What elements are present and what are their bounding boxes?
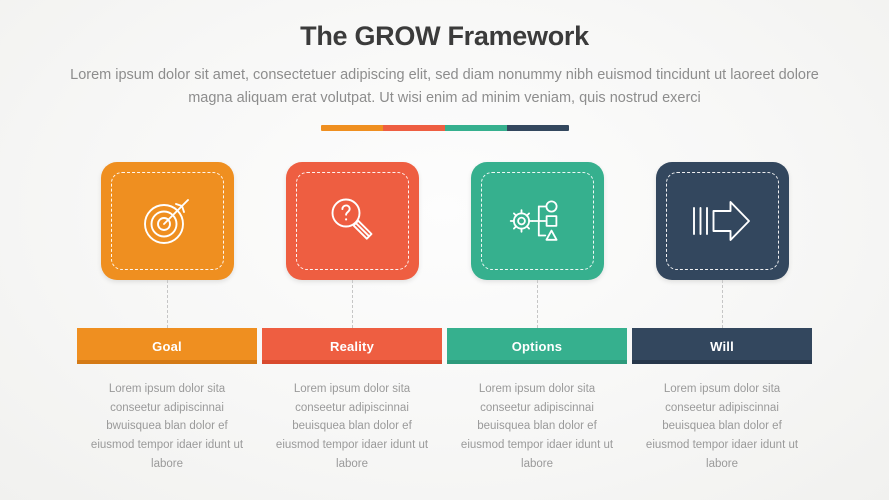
framework-column-will: Will Lorem ipsum dolor sita conseetur ad… — [630, 162, 815, 474]
framework-column-options: Options Lorem ipsum dolor sita conseetur… — [445, 162, 630, 474]
divider-segment-1 — [321, 125, 383, 131]
framework-column-goal: Goal Lorem ipsum dolor sita conseetur ad… — [75, 162, 260, 474]
icon-card-will[interactable] — [656, 162, 789, 280]
description-reality: Lorem ipsum dolor sita conseetur adipisc… — [272, 380, 432, 474]
connector-line-options — [537, 280, 538, 328]
description-goal: Lorem ipsum dolor sita conseetur adipisc… — [87, 380, 247, 474]
motion-arrow-right-icon — [692, 198, 752, 244]
icon-card-options[interactable] — [471, 162, 604, 280]
label-text-options: Options — [512, 339, 563, 354]
connector-line-will — [722, 280, 723, 328]
connector-line-goal — [167, 280, 168, 328]
page-title: The GROW Framework — [0, 22, 889, 52]
divider-segment-4 — [507, 125, 569, 131]
infographic-slide: The GROW Framework Lorem ipsum dolor sit… — [0, 0, 889, 500]
label-bar-underline — [447, 360, 627, 364]
icon-card-goal[interactable] — [101, 162, 234, 280]
header: The GROW Framework Lorem ipsum dolor sit… — [0, 0, 889, 131]
target-arrow-icon — [138, 192, 196, 250]
label-text-will: Will — [710, 339, 734, 354]
label-text-goal: Goal — [152, 339, 182, 354]
icon-card-dashed-frame — [111, 172, 224, 270]
label-bar-options[interactable]: Options — [447, 328, 627, 364]
description-will: Lorem ipsum dolor sita conseetur adipisc… — [642, 380, 802, 474]
label-bar-underline — [262, 360, 442, 364]
label-bar-reality[interactable]: Reality — [262, 328, 442, 364]
description-options: Lorem ipsum dolor sita conseetur adipisc… — [457, 380, 617, 474]
label-bar-underline — [77, 360, 257, 364]
page-subtitle: Lorem ipsum dolor sit amet, consectetuer… — [60, 64, 830, 111]
label-text-reality: Reality — [330, 339, 374, 354]
icon-card-dashed-frame — [666, 172, 779, 270]
icon-card-dashed-frame — [296, 172, 409, 270]
label-bar-goal[interactable]: Goal — [77, 328, 257, 364]
divider-segment-2 — [383, 125, 445, 131]
icon-card-dashed-frame — [481, 172, 594, 270]
gear-branching-shapes-icon — [507, 192, 567, 250]
framework-column-reality: Reality Lorem ipsum dolor sita conseetur… — [260, 162, 445, 474]
label-bar-will[interactable]: Will — [632, 328, 812, 364]
label-bar-underline — [632, 360, 812, 364]
icon-card-reality[interactable] — [286, 162, 419, 280]
divider-segment-3 — [445, 125, 507, 131]
magnifier-question-icon — [323, 192, 381, 250]
color-divider — [321, 125, 569, 131]
connector-line-reality — [352, 280, 353, 328]
framework-columns: Goal Lorem ipsum dolor sita conseetur ad… — [0, 162, 889, 474]
